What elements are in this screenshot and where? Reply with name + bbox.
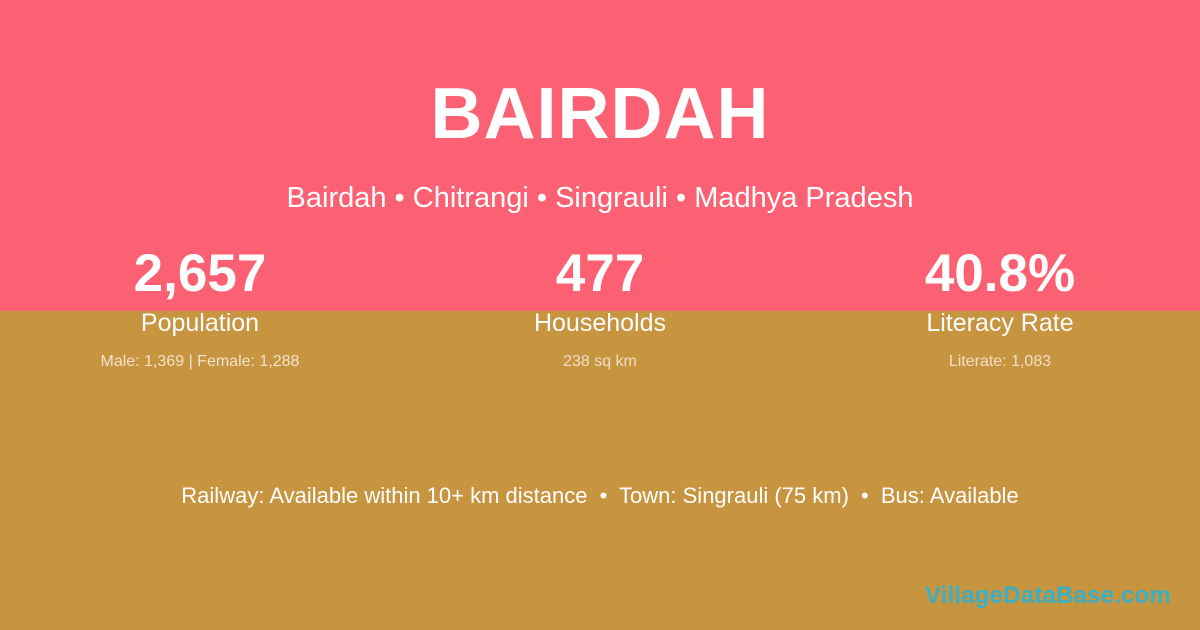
bullet-separator-icon: • [594, 483, 614, 508]
stat-households: 477 Households 238 sq km [400, 245, 800, 374]
site-brand: VillageDataBase.com [925, 582, 1171, 610]
transport-info: Railway: Available within 10+ km distanc… [0, 483, 1200, 509]
stat-label: Literacy Rate [800, 305, 1200, 343]
breadcrumb: Bairdah • Chitrangi • Singrauli • Madhya… [0, 180, 1200, 218]
transport-bus: Bus: Available [881, 483, 1019, 508]
stat-value: 477 [400, 245, 800, 303]
stat-label: Population [0, 305, 400, 343]
stat-sublabel: 238 sq km [400, 349, 800, 375]
stat-value: 2,657 [0, 245, 400, 303]
stat-population: 2,657 Population Male: 1,369 | Female: 1… [0, 245, 400, 374]
page-title: BAIRDAH [0, 78, 1200, 150]
stat-literacy-rate: 40.8% Literacy Rate Literate: 1,083 [800, 245, 1200, 374]
bullet-separator-icon: • [855, 483, 875, 508]
stat-value: 40.8% [800, 245, 1200, 303]
transport-town: Town: Singrauli (75 km) [619, 483, 849, 508]
transport-railway: Railway: Available within 10+ km distanc… [181, 483, 587, 508]
stats-row: 2,657 Population Male: 1,369 | Female: 1… [0, 245, 1200, 374]
stat-label: Households [400, 305, 800, 343]
village-info-card: BAIRDAH Bairdah • Chitrangi • Singrauli … [0, 0, 1200, 630]
stat-sublabel: Literate: 1,083 [800, 349, 1200, 375]
stat-sublabel: Male: 1,369 | Female: 1,288 [0, 349, 400, 375]
